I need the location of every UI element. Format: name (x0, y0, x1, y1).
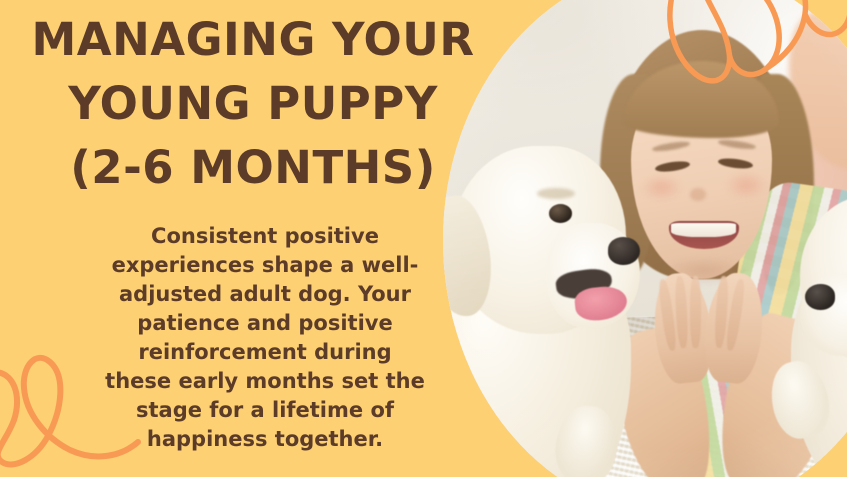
photo-blob (443, 0, 847, 477)
page-title: MANAGING YOUR YOUNG PUPPY (2-6 MONTHS) (18, 8, 488, 200)
photo-puppy-left-eye (549, 204, 573, 223)
photo-girl-cheek-left (640, 174, 682, 202)
photo-girl-teeth (671, 223, 736, 237)
title-line-3: (2-6 MONTHS) (18, 136, 488, 200)
photo-girl-finger-3 (690, 276, 701, 348)
photo-puppy-left-brow (537, 188, 575, 199)
title-line-1: MANAGING YOUR (18, 8, 488, 72)
text-column: MANAGING YOUR YOUNG PUPPY (2-6 MONTHS) C… (0, 0, 470, 477)
photo-image (443, 0, 847, 477)
poster-canvas: MANAGING YOUR YOUNG PUPPY (2-6 MONTHS) C… (0, 0, 847, 477)
body-paragraph: Consistent positive experiences shape a … (104, 222, 426, 454)
photo-puppy-right-nose (805, 284, 836, 309)
title-line-2: YOUNG PUPPY (18, 72, 488, 136)
photo-puppy-left-nose (608, 237, 641, 265)
photo-girl-cheek-right (725, 171, 767, 199)
